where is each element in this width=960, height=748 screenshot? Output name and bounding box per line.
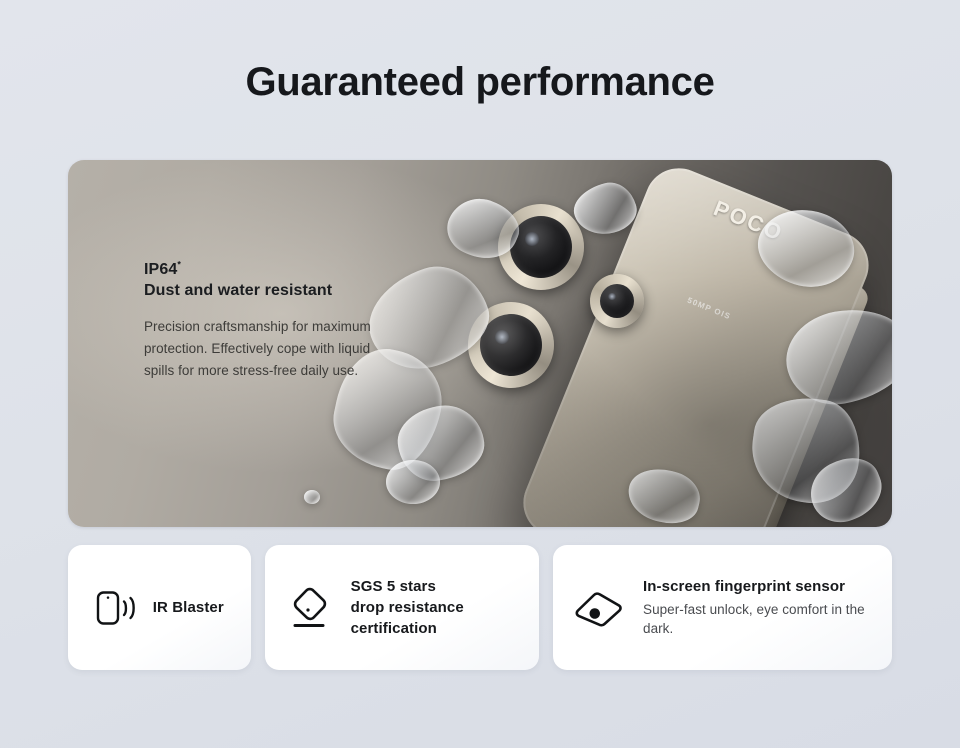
hero-eyebrow: IP64* — [144, 260, 384, 280]
camera-lens-tertiary-icon — [590, 274, 644, 328]
feature-card-text-block: In-screen fingerprint sensor Super-fast … — [643, 576, 872, 639]
phone-ir-signal-icon — [95, 590, 141, 626]
feature-card-line-3: certification — [351, 620, 437, 637]
water-droplet-icon — [386, 460, 440, 504]
hero-body-text: Precision craftsmanship for maximum prot… — [144, 316, 384, 382]
feature-card-ir-blaster[interactable]: IR Blaster — [68, 545, 251, 670]
hero-banner: POCO 50MP OIS IP64* Dust and water resis… — [68, 160, 892, 527]
camera-lens-main-icon — [498, 204, 584, 290]
promo-page: Guaranteed performance POCO 50MP OIS IP — [0, 0, 960, 748]
feature-card-drop-resistance[interactable]: SGS 5 stars drop resistance certificatio… — [265, 545, 539, 670]
hero-eyebrow-footnote-marker: * — [177, 260, 181, 270]
feature-card-label: IR Blaster — [153, 599, 224, 616]
feature-card-title: In-screen fingerprint sensor — [643, 578, 845, 595]
feature-card-title-block: SGS 5 stars drop resistance certificatio… — [351, 576, 464, 640]
water-droplet-icon — [304, 490, 320, 504]
hero-eyebrow-text: IP64 — [144, 261, 177, 278]
camera-lens-secondary-icon — [468, 302, 554, 388]
page-title: Guaranteed performance — [0, 60, 960, 105]
product-image-poco-phone: POCO 50MP OIS — [468, 160, 892, 527]
in-screen-fingerprint-icon — [573, 588, 625, 628]
hero-heading: Dust and water resistant — [144, 281, 384, 302]
feature-card-fingerprint-sensor[interactable]: In-screen fingerprint sensor Super-fast … — [553, 545, 892, 670]
feature-card-line-1: SGS 5 stars — [351, 578, 436, 595]
feature-card-list: IR Blaster SGS 5 stars drop resistance c… — [68, 545, 892, 670]
phone-drop-resistance-icon — [287, 584, 333, 632]
hero-copy-block: IP64* Dust and water resistant Precision… — [144, 260, 384, 381]
feature-card-description: Super-fast unlock, eye comfort in the da… — [643, 600, 872, 639]
feature-card-line-2: drop resistance — [351, 599, 464, 616]
